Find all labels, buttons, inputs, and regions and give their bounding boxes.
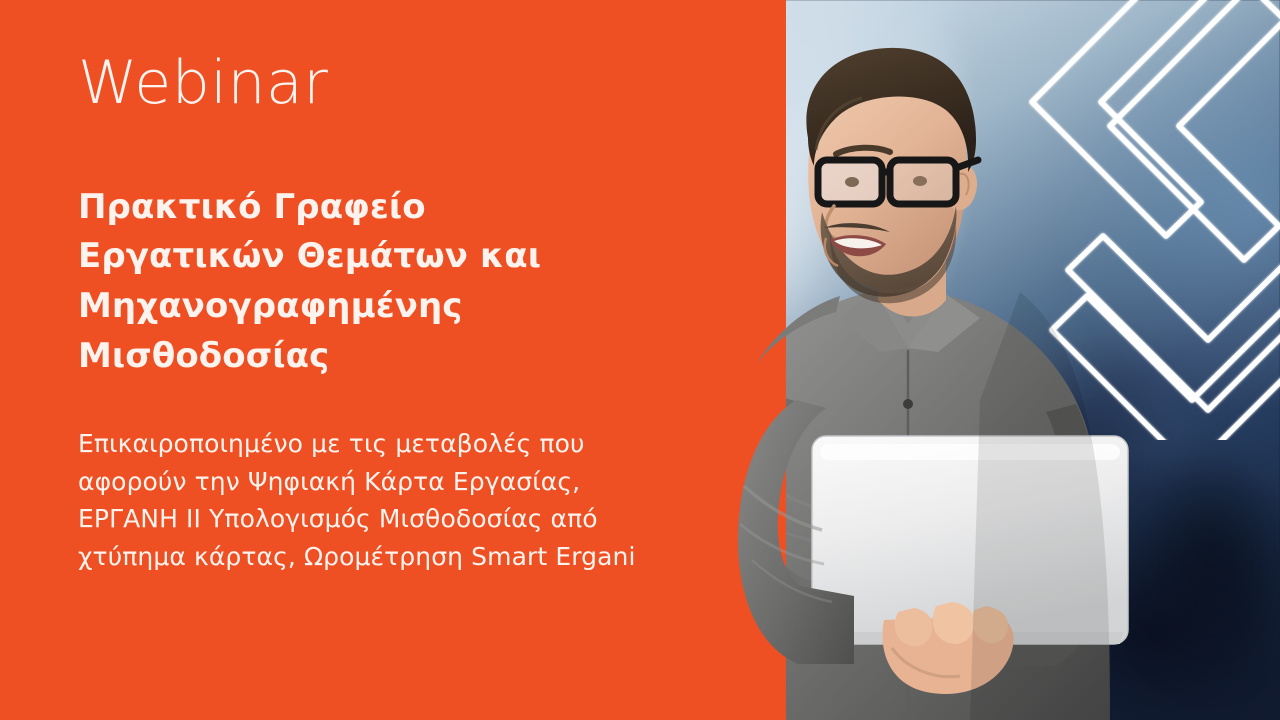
eye <box>913 176 927 186</box>
glasses-icon <box>818 160 978 204</box>
text-content: Webinar Πρακτικό Γραφείο Εργατικών Θεμάτ… <box>78 0 678 720</box>
webinar-eyebrow: Webinar <box>78 53 328 113</box>
shirt-button <box>903 399 913 409</box>
webinar-banner: Webinar Πρακτικό Γραφείο Εργατικών Θεμάτ… <box>0 0 1280 720</box>
page-title: Πρακτικό Γραφείο Εργατικών Θεμάτων και Μ… <box>78 183 638 382</box>
page-subtitle: Επικαιροποιημένο με τις μεταβολές που αφ… <box>78 425 638 575</box>
eye <box>845 177 859 187</box>
